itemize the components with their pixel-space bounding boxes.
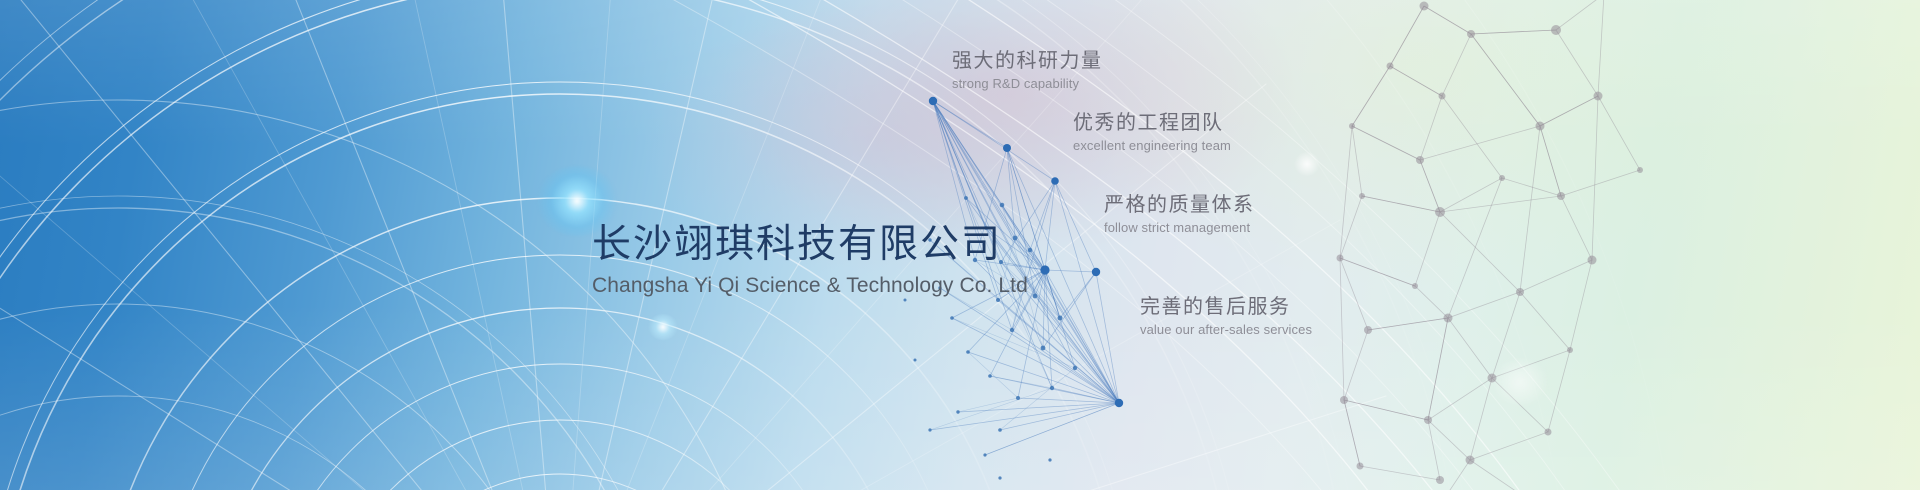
- glow-highlight-soft: [1490, 360, 1550, 404]
- company-name-cn: 长沙翊琪科技有限公司: [592, 222, 1072, 268]
- hero-banner: 长沙翊琪科技有限公司 Changsha Yi Qi Science & Tech…: [0, 0, 1920, 490]
- feature-label-en: excellent engineering team: [1073, 137, 1231, 154]
- company-brand: 长沙翊琪科技有限公司 Changsha Yi Qi Science & Tech…: [592, 222, 1072, 299]
- feature-callout-service: 完善的售后服务 value our after-sales services: [1140, 294, 1312, 338]
- feature-label-cn: 强大的科研力量: [952, 48, 1103, 73]
- feature-callout-rd: 强大的科研力量 strong R&D capability: [952, 48, 1103, 92]
- feature-label-cn: 严格的质量体系: [1104, 192, 1255, 217]
- feature-label-en: strong R&D capability: [952, 75, 1103, 92]
- feature-label-cn: 优秀的工程团队: [1073, 110, 1231, 135]
- glow-highlight-secondary: [648, 314, 678, 340]
- feature-label-en: value our after-sales services: [1140, 321, 1312, 338]
- glow-highlight-right: [1294, 152, 1320, 176]
- feature-callout-team: 优秀的工程团队 excellent engineering team: [1073, 110, 1231, 154]
- feature-label-en: follow strict management: [1104, 219, 1255, 236]
- feature-callout-quality: 严格的质量体系 follow strict management: [1104, 192, 1255, 236]
- feature-label-cn: 完善的售后服务: [1140, 294, 1312, 319]
- company-name-en: Changsha Yi Qi Science & Technology Co. …: [592, 273, 1072, 299]
